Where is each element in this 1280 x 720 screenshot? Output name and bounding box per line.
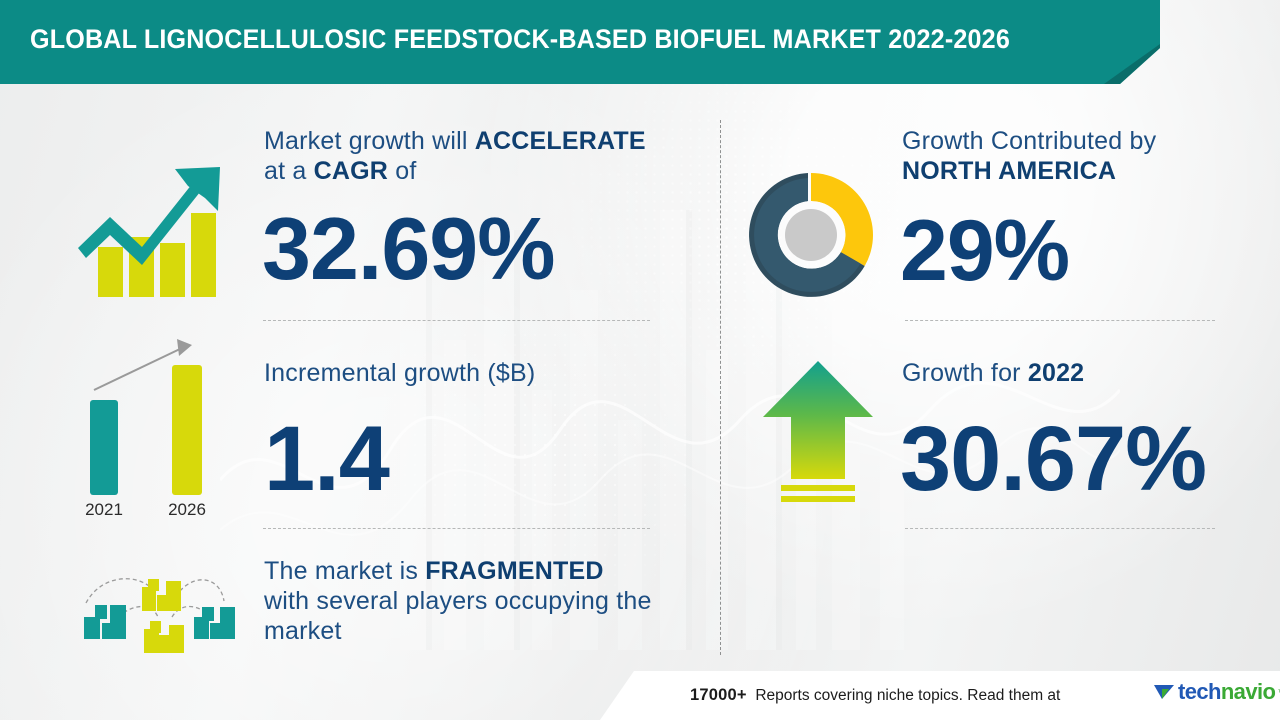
up-arrow-icon <box>757 357 879 514</box>
donut-chart-icon <box>736 168 886 303</box>
bar-label-2026: 2026 <box>168 500 206 519</box>
fragmented-line1-bold: FRAGMENTED <box>425 557 603 585</box>
divider-left-top <box>263 320 650 321</box>
yearly-label-plain: Growth for <box>902 359 1028 387</box>
divider-left-bottom <box>263 528 650 529</box>
yearly-label-bold: 2022 <box>1028 359 1084 387</box>
cagr-line1-bold: ACCELERATE <box>475 127 646 155</box>
incremental-value: 1.4 <box>264 413 389 505</box>
technavio-wordmark: technavio <box>1178 681 1275 703</box>
cagr-line2-tail: of <box>388 157 416 185</box>
technavio-logo[interactable]: technavio ™ <box>1152 681 1280 703</box>
yearly-label: Growth for 2022 <box>902 358 1084 388</box>
technavio-mark-icon <box>1152 681 1176 703</box>
footer-tagline: Reports covering niche topics. Read them… <box>755 687 1060 704</box>
cagr-line2-plain: at a <box>264 157 314 185</box>
yearly-value: 30.67% <box>900 413 1206 505</box>
connected-buildings-icon <box>62 555 240 660</box>
two-bar-chart-icon: 2021 2026 <box>60 335 240 520</box>
divider-right-top <box>905 320 1215 321</box>
fragmented-line1-plain: The market is <box>264 557 425 585</box>
bar-label-2021: 2021 <box>85 500 123 519</box>
page-title: GLOBAL LIGNOCELLULOSIC FEEDSTOCK-BASED B… <box>30 24 1010 55</box>
incremental-label: Incremental growth ($B) <box>264 358 535 388</box>
cagr-value: 32.69% <box>262 205 554 293</box>
region-value: 29% <box>900 208 1069 294</box>
cagr-description: Market growth will ACCELERATE at a CAGR … <box>264 126 664 186</box>
growth-arrow-bars-icon <box>62 155 240 300</box>
logo-navio: navio <box>1221 679 1275 704</box>
region-description: Growth Contributed by NORTH AMERICA <box>902 126 1222 186</box>
fragmented-line3: market <box>264 617 342 645</box>
cagr-line1-plain: Market growth will <box>264 127 475 155</box>
divider-vertical <box>720 120 721 655</box>
region-line1: Growth Contributed by <box>902 127 1156 155</box>
logo-tech: tech <box>1178 679 1221 704</box>
region-line2-bold: NORTH AMERICA <box>902 157 1116 185</box>
footer-text: 17000+ Reports covering niche topics. Re… <box>690 686 1060 705</box>
fragmented-line2: with several players occupying the <box>264 587 652 615</box>
cagr-line2-bold: CAGR <box>314 157 388 185</box>
footer-report-count: 17000+ <box>690 686 747 704</box>
fragmented-description: The market is FRAGMENTED with several pl… <box>264 556 674 646</box>
divider-right-bottom <box>905 528 1215 529</box>
